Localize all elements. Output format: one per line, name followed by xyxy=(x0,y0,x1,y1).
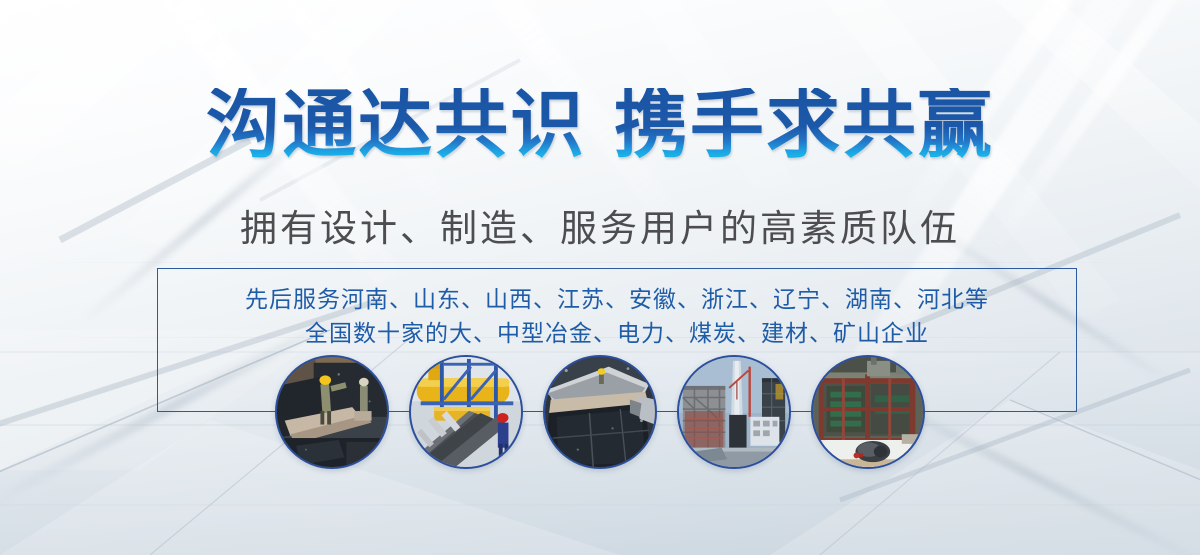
subtitle-text: 拥有设计、制造、服务用户的高素质队伍 xyxy=(0,198,1200,252)
photo-art xyxy=(411,357,521,467)
photo-workshop-interior xyxy=(811,355,925,469)
photo-plant-construction-site xyxy=(677,355,791,469)
photo-dark-hopper-structure xyxy=(543,355,657,469)
photo-steel-lining-installation xyxy=(275,355,389,469)
photo-art xyxy=(813,357,923,467)
photo-art xyxy=(679,357,789,467)
photo-art xyxy=(277,357,387,467)
horizontal-rule xyxy=(0,262,1200,263)
photo-circle-row xyxy=(0,355,1200,515)
promo-banner: 沟通达共识 携手求共赢 拥有设计、制造、服务用户的高素质队伍 先后服务河南、山东… xyxy=(0,0,1200,555)
description-text-block: 先后服务河南、山东、山西、江苏、安徽、浙江、辽宁、湖南、河北等 全国数十家的大、… xyxy=(157,282,1077,350)
description-line-1: 先后服务河南、山东、山西、江苏、安徽、浙江、辽宁、湖南、河北等 xyxy=(157,282,1077,316)
headline-container: 沟通达共识 携手求共赢 xyxy=(0,88,1200,162)
photo-art xyxy=(545,357,655,467)
description-line-2: 全国数十家的大、中型冶金、电力、煤炭、建材、矿山企业 xyxy=(157,316,1077,350)
headline-text: 沟通达共识 携手求共赢 xyxy=(206,88,994,162)
photo-yellow-equipment-pipes xyxy=(409,355,523,469)
